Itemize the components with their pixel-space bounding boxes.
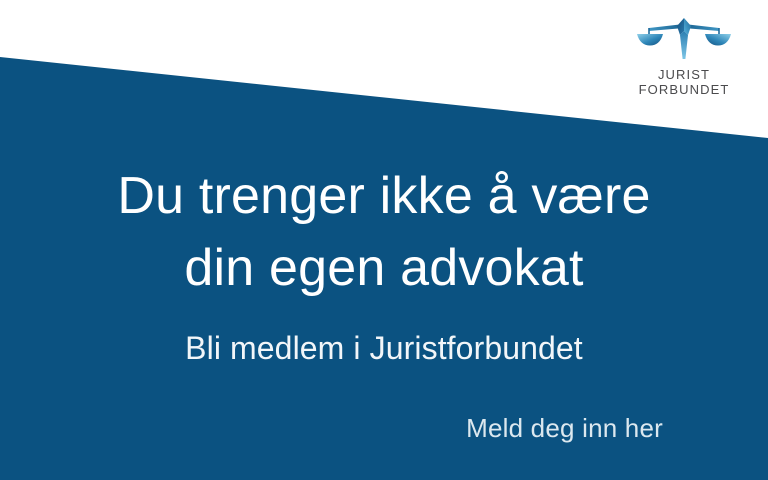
signup-cta-link[interactable]: Meld deg inn her xyxy=(466,412,663,444)
subtitle: Bli medlem i Juristforbundet xyxy=(0,328,768,368)
logo-wordmark: JURIST FORBUNDET xyxy=(639,67,730,97)
headline-line-1: Du trenger ikke å være xyxy=(0,160,768,232)
juristforbundet-logo[interactable]: JURIST FORBUNDET xyxy=(620,14,748,97)
logo-wordmark-line-2: FORBUNDET xyxy=(639,82,730,97)
scales-of-justice-icon xyxy=(636,14,732,62)
ad-banner: JURIST FORBUNDET Du trenger ikke å være … xyxy=(0,0,768,480)
headline-line-2: din egen advokat xyxy=(0,232,768,304)
logo-wordmark-line-1: JURIST xyxy=(639,67,730,82)
headline: Du trenger ikke å være din egen advokat xyxy=(0,160,768,304)
